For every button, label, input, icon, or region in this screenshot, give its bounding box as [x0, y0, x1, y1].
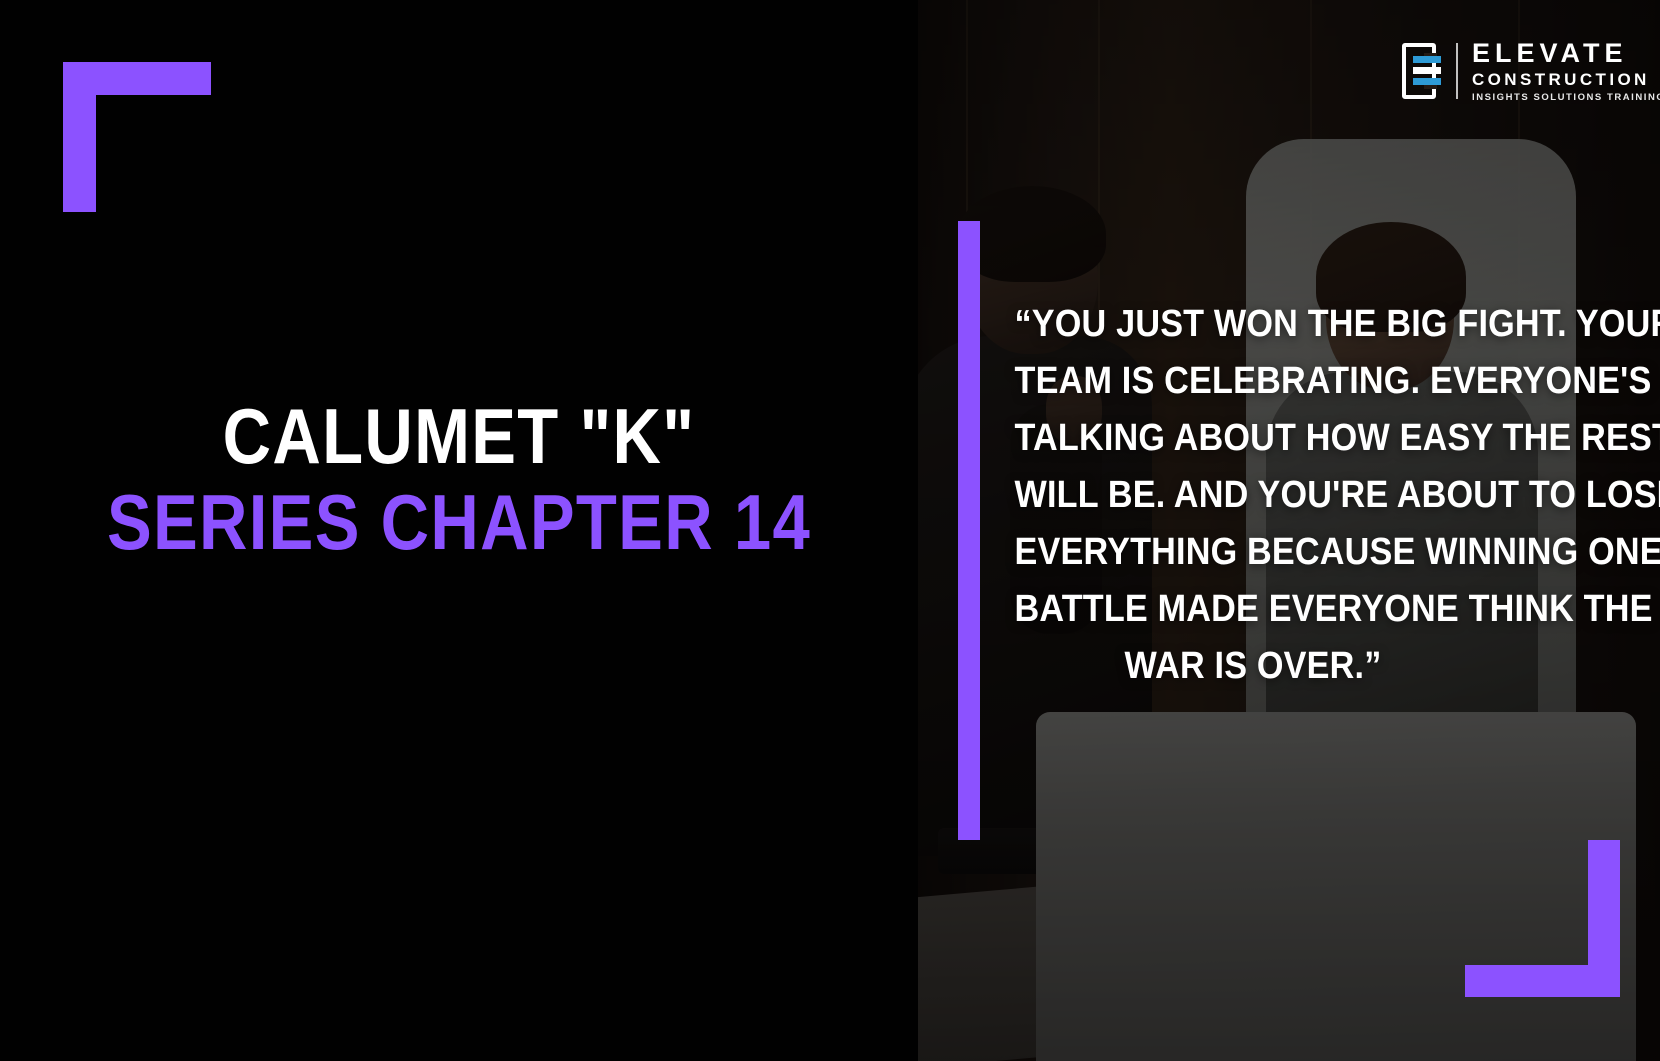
quote-block: “YOU JUST WON THE BIG FIGHT. YOUR TEAM I…: [988, 296, 1518, 695]
logo-brand-name: ELEVATE: [1472, 40, 1660, 67]
logo-bar-white: [1413, 67, 1441, 74]
bracket-arm-horizontal: [1465, 965, 1620, 997]
quote-line: WILL BE. AND YOU'RE ABOUT TO LOSE: [1015, 467, 1492, 524]
logo-bar-blue: [1413, 56, 1441, 63]
quote-line: EVERYTHING BECAUSE WINNING ONE: [1015, 524, 1492, 581]
logo-tagline: INSIGHTS SOLUTIONS TRAINING: [1472, 93, 1660, 103]
logo-divider: [1456, 43, 1458, 99]
title-block: CALUMET "K" SERIES CHAPTER 14: [0, 398, 918, 561]
corner-bracket-bottom-right-icon: [1465, 840, 1620, 997]
quote-line: BATTLE MADE EVERYONE THINK THE: [1015, 581, 1492, 638]
page-title: CALUMET "K": [64, 398, 853, 474]
corner-bracket-top-left-icon: [63, 62, 211, 212]
quote-line: TALKING ABOUT HOW EASY THE REST: [1015, 410, 1492, 467]
brand-logo: ELEVATE CONSTRUCTION INSIGHTS SOLUTIONS …: [1402, 40, 1660, 103]
logo-brand-subtitle: CONSTRUCTION: [1472, 71, 1660, 88]
vertical-accent-bar: [958, 221, 980, 840]
elevate-e-mark-icon: [1402, 43, 1436, 99]
logo-text: ELEVATE CONSTRUCTION INSIGHTS SOLUTIONS …: [1472, 40, 1660, 103]
logo-bar-blue: [1413, 78, 1441, 85]
bracket-arm-vertical: [63, 62, 96, 212]
quote-line: TEAM IS CELEBRATING. EVERYONE'S: [1015, 353, 1492, 410]
slide-canvas: CALUMET "K" SERIES CHAPTER 14 “YOU JUST …: [0, 0, 1660, 1061]
quote-line: “YOU JUST WON THE BIG FIGHT. YOUR: [1015, 296, 1492, 353]
quote-line: WAR IS OVER.”: [1015, 638, 1492, 695]
page-subtitle: SERIES CHAPTER 14: [64, 484, 853, 560]
